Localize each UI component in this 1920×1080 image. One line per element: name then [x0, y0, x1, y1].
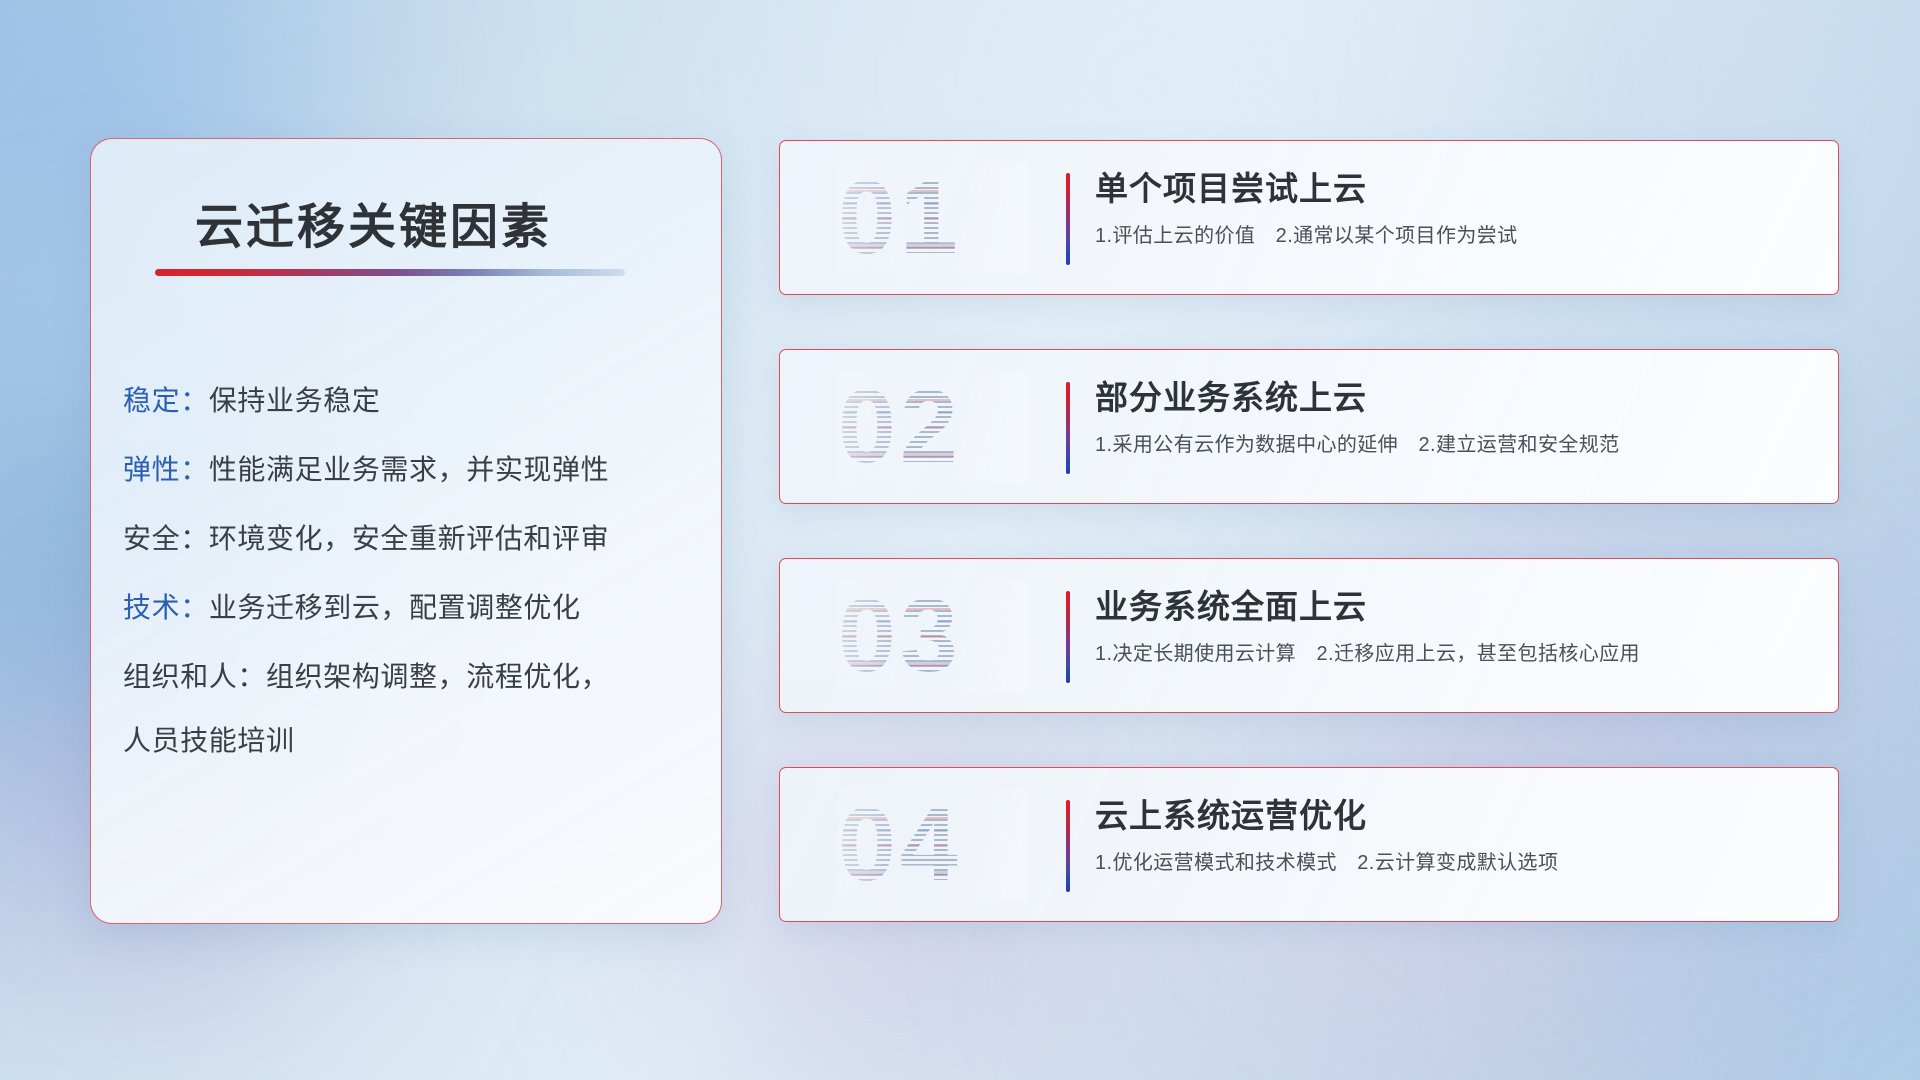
- accent-bar: [1066, 382, 1070, 474]
- accent-bar: [1066, 173, 1070, 265]
- factor-label: 组织和人：: [123, 661, 266, 692]
- stage-card-02[interactable]: 02 02 02 部分业务系统上云 1.采用公有云作为数据中心的延伸 2.建立运…: [779, 349, 1839, 504]
- stage-card-text: 云上系统运营优化 1.优化运营模式和技术模式 2.云计算变成默认选项: [1095, 795, 1814, 875]
- factor-value: 人员技能培训: [123, 725, 295, 756]
- stage-card-text: 单个项目尝试上云 1.评估上云的价值 2.通常以某个项目作为尝试: [1095, 168, 1814, 248]
- stage-card-text: 部分业务系统上云 1.采用公有云作为数据中心的延伸 2.建立运营和安全规范: [1095, 377, 1814, 457]
- factor-label: 稳定：: [123, 385, 209, 416]
- stage-card-01[interactable]: 01 01 01 单个项目尝试上云 1.评估上云的价值 2.通常以某个项目作为尝…: [779, 140, 1839, 295]
- accent-bar: [1066, 800, 1070, 892]
- stage-number-graphic: 03 03 03: [838, 580, 1028, 692]
- factor-value: 组织架构调整，流程优化，: [266, 661, 609, 692]
- factor-value: 业务迁移到云，配置调整优化: [209, 592, 581, 623]
- factor-label: 安全：: [123, 523, 209, 554]
- factor-value: 保持业务稳定: [209, 385, 381, 416]
- stage-number-graphic: 02 02 02: [838, 371, 1028, 483]
- stage-title: 云上系统运营优化: [1095, 795, 1814, 837]
- factor-item: 组织和人：组织架构调整，流程优化，: [123, 663, 695, 691]
- stage-subtitle: 1.采用公有云作为数据中心的延伸 2.建立运营和安全规范: [1095, 428, 1814, 457]
- stage-card-text: 业务系统全面上云 1.决定长期使用云计算 2.迁移应用上云，甚至包括核心应用: [1095, 586, 1814, 666]
- slide-content: 云迁移关键因素 稳定：保持业务稳定 弹性：性能满足业务需求，并实现弹性 安全：环…: [0, 0, 1920, 1080]
- factor-item: 安全：环境变化，安全重新评估和评审: [123, 525, 695, 553]
- stage-number-blue-scanlines: 04: [838, 789, 1028, 901]
- accent-bar: [1066, 591, 1070, 683]
- factor-value: 环境变化，安全重新评估和评审: [209, 523, 609, 554]
- stage-subtitle: 1.优化运营模式和技术模式 2.云计算变成默认选项: [1095, 846, 1814, 875]
- factor-label: 技术：: [123, 592, 209, 623]
- stage-card-04[interactable]: 04 04 04 云上系统运营优化 1.优化运营模式和技术模式 2.云计算变成默…: [779, 767, 1839, 922]
- title-underline-rule: [155, 269, 625, 276]
- stage-subtitle: 1.评估上云的价值 2.通常以某个项目作为尝试: [1095, 219, 1814, 248]
- factor-item: 稳定：保持业务稳定: [123, 387, 695, 415]
- stage-card-03[interactable]: 03 03 03 业务系统全面上云 1.决定长期使用云计算 2.迁移应用上云，甚…: [779, 558, 1839, 713]
- stage-number-blue-scanlines: 02: [838, 371, 1028, 483]
- key-factors-panel: 云迁移关键因素 稳定：保持业务稳定 弹性：性能满足业务需求，并实现弹性 安全：环…: [90, 138, 722, 924]
- stage-title: 业务系统全面上云: [1095, 586, 1814, 628]
- stage-subtitle: 1.决定长期使用云计算 2.迁移应用上云，甚至包括核心应用: [1095, 637, 1814, 666]
- key-factors-list: 稳定：保持业务稳定 弹性：性能满足业务需求，并实现弹性 安全：环境变化，安全重新…: [123, 387, 695, 796]
- stage-number-blue-scanlines: 01: [838, 162, 1028, 274]
- factor-item: 弹性：性能满足业务需求，并实现弹性: [123, 456, 695, 484]
- factor-label: 弹性：: [123, 454, 209, 485]
- factor-item: 技术：业务迁移到云，配置调整优化: [123, 594, 695, 622]
- stage-number-graphic: 01 01 01: [838, 162, 1028, 274]
- panel-title: 云迁移关键因素: [195, 187, 552, 257]
- factor-value: 性能满足业务需求，并实现弹性: [209, 454, 609, 485]
- stage-number-blue-scanlines: 03: [838, 580, 1028, 692]
- factor-item-continuation: 人员技能培训: [123, 727, 695, 755]
- stage-title: 单个项目尝试上云: [1095, 168, 1814, 210]
- stage-number-graphic: 04 04 04: [838, 789, 1028, 901]
- stage-title: 部分业务系统上云: [1095, 377, 1814, 419]
